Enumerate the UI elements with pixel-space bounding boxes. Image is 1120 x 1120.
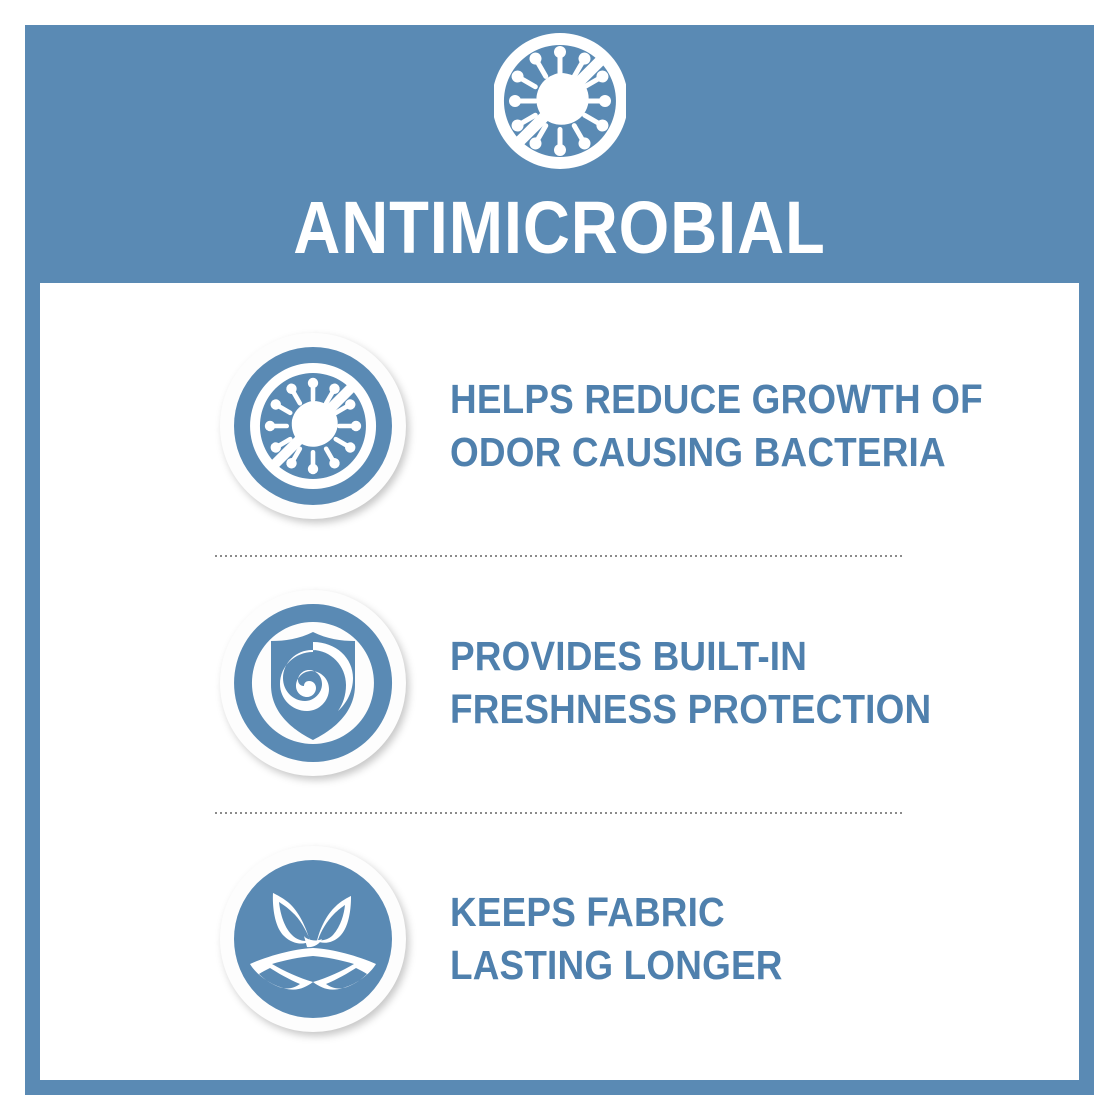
feature-label: KEEPS FABRIC LASTING LONGER — [450, 886, 783, 991]
page-title: ANTIMICROBIAL — [293, 191, 825, 265]
no-germ-circle-icon — [218, 331, 408, 521]
feature-list: HELPS REDUCE GROWTH OF ODOR CAUSING BACT… — [40, 283, 1079, 1080]
no-germ-icon — [494, 25, 626, 177]
feature-label: HELPS REDUCE GROWTH OF ODOR CAUSING BACT… — [450, 373, 983, 478]
feature-row: KEEPS FABRIC LASTING LONGER — [40, 831, 1079, 1046]
feature-label: PROVIDES BUILT-IN FRESHNESS PROTECTION — [450, 630, 931, 735]
shield-swirl-icon — [218, 588, 408, 778]
infographic-page: ANTIMICROBIAL — [0, 0, 1120, 1120]
divider — [215, 555, 905, 557]
leaf-sprout-icon — [218, 844, 408, 1034]
header: ANTIMICROBIAL — [25, 25, 1094, 283]
feature-row: HELPS REDUCE GROWTH OF ODOR CAUSING BACT… — [40, 318, 1079, 533]
divider — [215, 812, 905, 814]
feature-row: PROVIDES BUILT-IN FRESHNESS PROTECTION — [40, 575, 1079, 790]
